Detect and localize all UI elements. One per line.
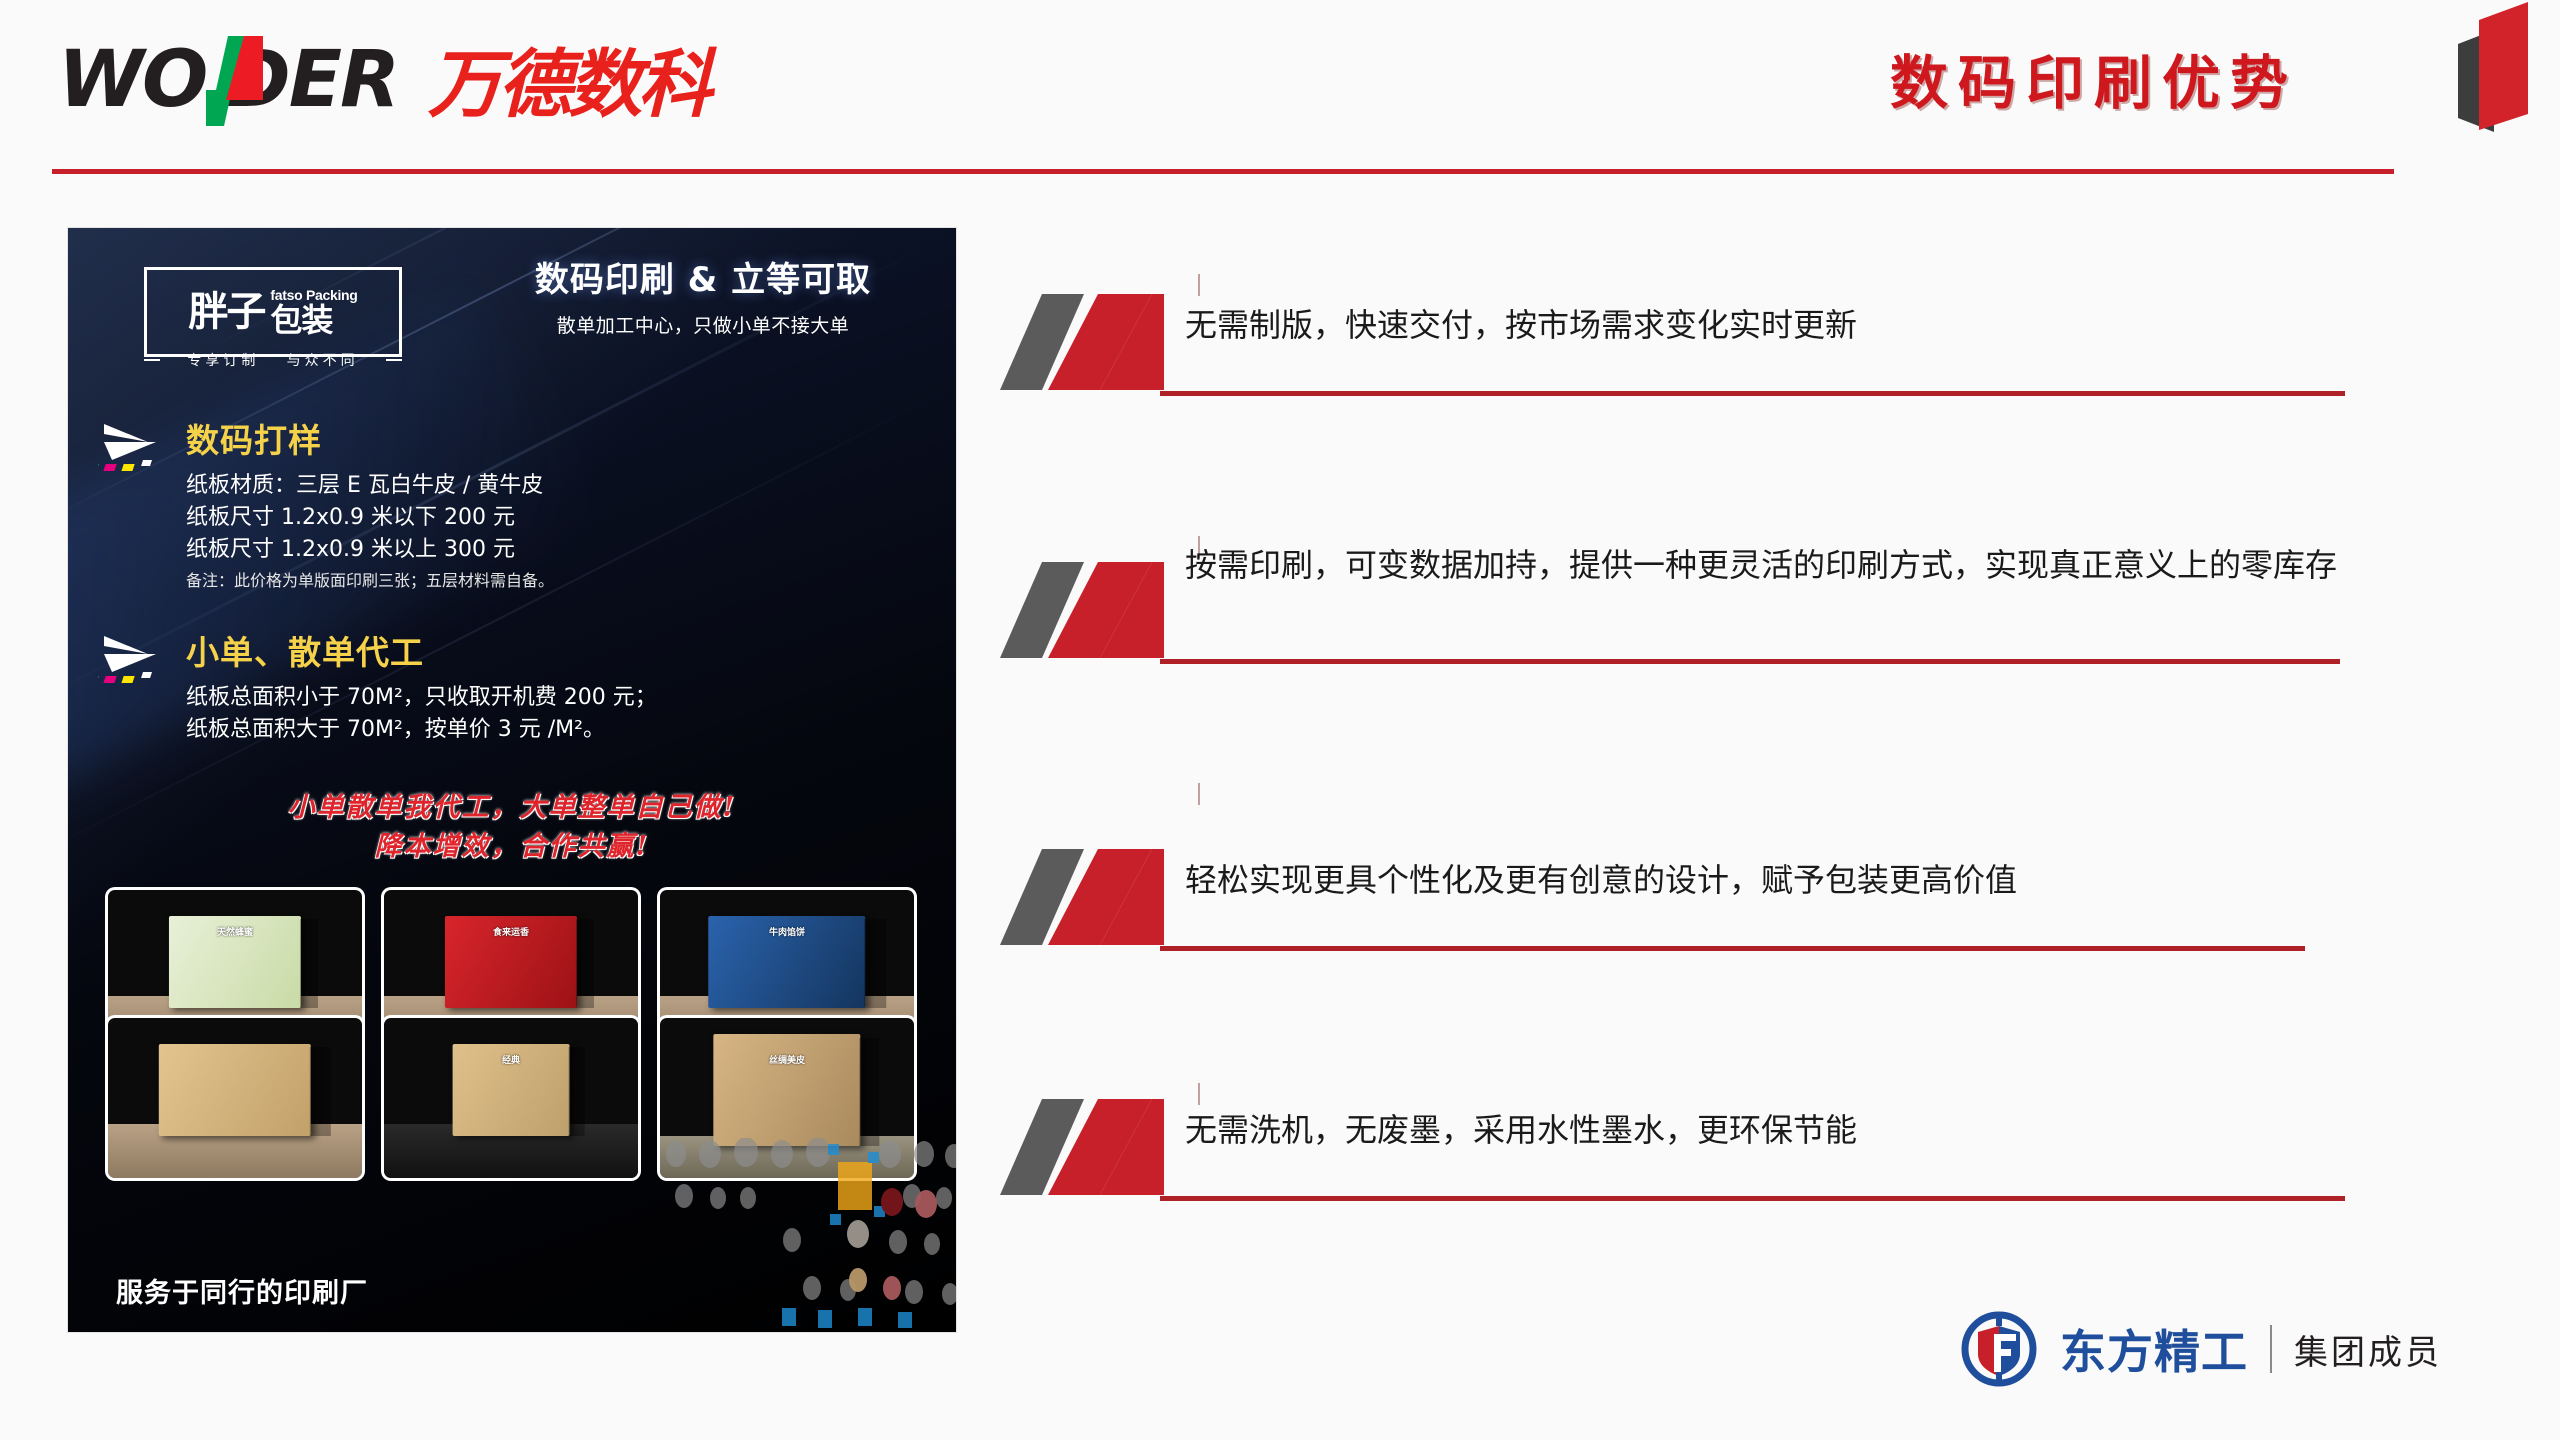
footer-separator — [2270, 1325, 2272, 1373]
fatso-packing-logo: 胖子 fatso Packing 包装 — [144, 267, 402, 357]
fatso-logo-cn-left: 胖子 — [188, 292, 264, 332]
tagline-rule-right — [386, 359, 402, 361]
fatso-logo-cn-right: 包装 — [270, 304, 332, 336]
benefit-text: 按需印刷，可变数据加持，提供一种更灵活的印刷方式，实现真正意义上的零库存 — [1185, 540, 2345, 592]
benefit-underline — [1160, 391, 2345, 396]
benefit-text: 无需制版，快速交付，按市场需求变化实时更新 — [1185, 300, 2345, 352]
benefit-text: 无需洗机，无废墨，采用水性墨水，更环保节能 — [1185, 1105, 2345, 1157]
tagline-rule-left — [144, 359, 160, 361]
section-1-line-1: 纸板材质：三层 E 瓦白牛皮 / 黄牛皮 — [186, 470, 554, 502]
arrow-marker-icon — [98, 420, 184, 474]
product-photo-label: 天然蜂蜜 — [217, 925, 253, 938]
poster-footer-text: 服务于同行的印刷厂 — [116, 1271, 368, 1310]
section-2-title: 小单、散单代工 — [186, 626, 657, 674]
wonder-brand-logo: WO DER 万德数科 — [58, 30, 838, 130]
tagline-left: 专享订制 — [187, 350, 259, 370]
poster-section-1: 数码打样 纸板材质：三层 E 瓦白牛皮 / 黄牛皮 纸板尺寸 1.2x0.9 米… — [186, 414, 554, 592]
promo-poster: 胖子 fatso Packing 包装 专享订制 与众不同 数码印刷 & 立等可… — [68, 228, 956, 1332]
product-photo-label: 经典 — [502, 1053, 520, 1066]
slanted-bars-icon — [1000, 290, 1208, 402]
section-1-title: 数码打样 — [186, 414, 554, 462]
poster-headline: 数码印刷 & 立等可取 — [468, 252, 938, 301]
slanted-bars-icon — [1000, 558, 1208, 670]
poster-section-2: 小单、散单代工 纸板总面积小于 70M²，只收取开机费 200 元； 纸板总面积… — [186, 626, 657, 746]
footer-company-name: 东方精工 — [2060, 1316, 2248, 1382]
fatso-logo-taglines: 专享订制 与众不同 — [144, 350, 402, 370]
arrow-marker-icon — [98, 632, 184, 686]
product-photo-label: 牛肉馅饼 — [769, 925, 805, 938]
svg-text:万德数科: 万德数科 — [427, 42, 717, 128]
benefit-underline — [1160, 1196, 2345, 1201]
bullet-tick-mark — [1198, 783, 1200, 805]
group-member-footer: 东方精工 集团成员 — [1960, 1310, 2442, 1388]
benefit-text: 轻松实现更具个性化及更有创意的设计，赋予包装更高价值 — [1185, 855, 2345, 907]
section-1-line-3: 纸板尺寸 1.2x0.9 米以上 300 元 — [186, 534, 554, 566]
slogan-line-1: 小单散单我代工，大单整单自己做! — [68, 788, 956, 827]
corner-ribbon-icon — [2432, 0, 2552, 150]
benefit-underline — [1160, 659, 2340, 664]
slide-root: WO DER 万德数科 数码印刷优势 胖子 fatso Packing — [0, 0, 2560, 1440]
svg-text:WO: WO — [58, 35, 206, 125]
section-2-line-1: 纸板总面积小于 70M²，只收取开机费 200 元； — [186, 682, 657, 714]
slanted-bars-icon — [1000, 845, 1208, 957]
header-divider — [52, 169, 2394, 174]
product-photo-grid: 天然蜂蜜 食来运香 牛肉馅饼 经典 — [108, 890, 914, 1128]
product-photo-label: 食来运香 — [493, 925, 529, 938]
section-1-note: 备注：此价格为单版面印刷三张；五层材料需自备。 — [186, 570, 554, 592]
footer-member-label: 集团成员 — [2294, 1325, 2442, 1374]
slanted-bars-icon — [1000, 1095, 1208, 1207]
slogan-line-2: 降本增效，合作共赢! — [68, 827, 956, 866]
fatso-logo-en: fatso Packing — [270, 288, 357, 302]
product-photo-label: 丝绸美皮 — [769, 1053, 805, 1066]
page-title: 数码印刷优势 — [1890, 36, 2298, 120]
section-1-line-2: 纸板尺寸 1.2x0.9 米以下 200 元 — [186, 502, 554, 534]
poster-slogan: 小单散单我代工，大单整单自己做! 降本增效，合作共赢! — [68, 788, 956, 866]
tagline-right: 与众不同 — [287, 350, 359, 370]
section-2-line-2: 纸板总面积大于 70M²，按单价 3 元 /M²。 — [186, 714, 657, 746]
poster-subheadline: 散单加工中心，只做小单不接大单 — [468, 311, 938, 338]
product-photo: 经典 — [384, 1018, 638, 1178]
shield-circle-icon — [1960, 1310, 2038, 1388]
poster-headline-block: 数码印刷 & 立等可取 散单加工中心，只做小单不接大单 — [468, 252, 938, 338]
benefit-underline — [1160, 946, 2305, 951]
product-photo — [108, 1018, 362, 1178]
product-photo: 丝绸美皮 — [660, 1018, 914, 1178]
